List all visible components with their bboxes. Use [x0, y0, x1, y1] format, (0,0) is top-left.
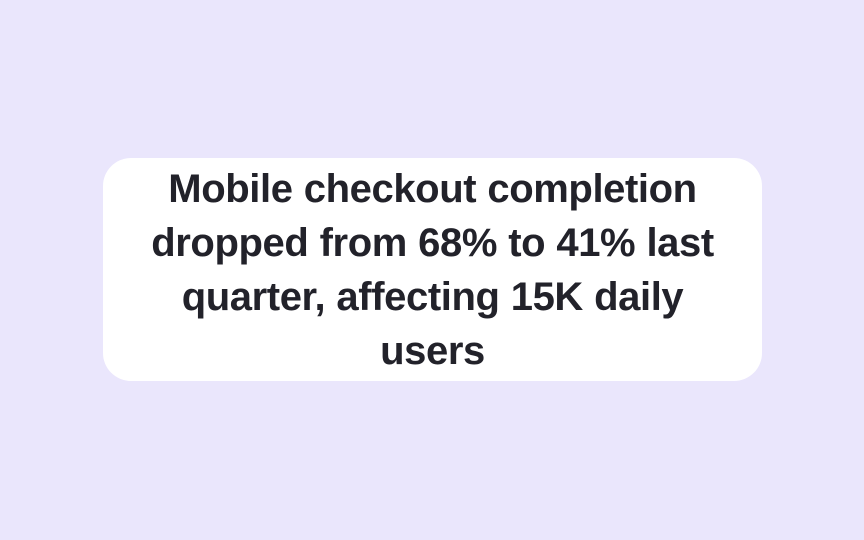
screen-background: Mobile checkout completion dropped from …: [0, 0, 864, 540]
insight-card: Mobile checkout completion dropped from …: [103, 158, 762, 381]
insight-message: Mobile checkout completion dropped from …: [133, 162, 733, 378]
